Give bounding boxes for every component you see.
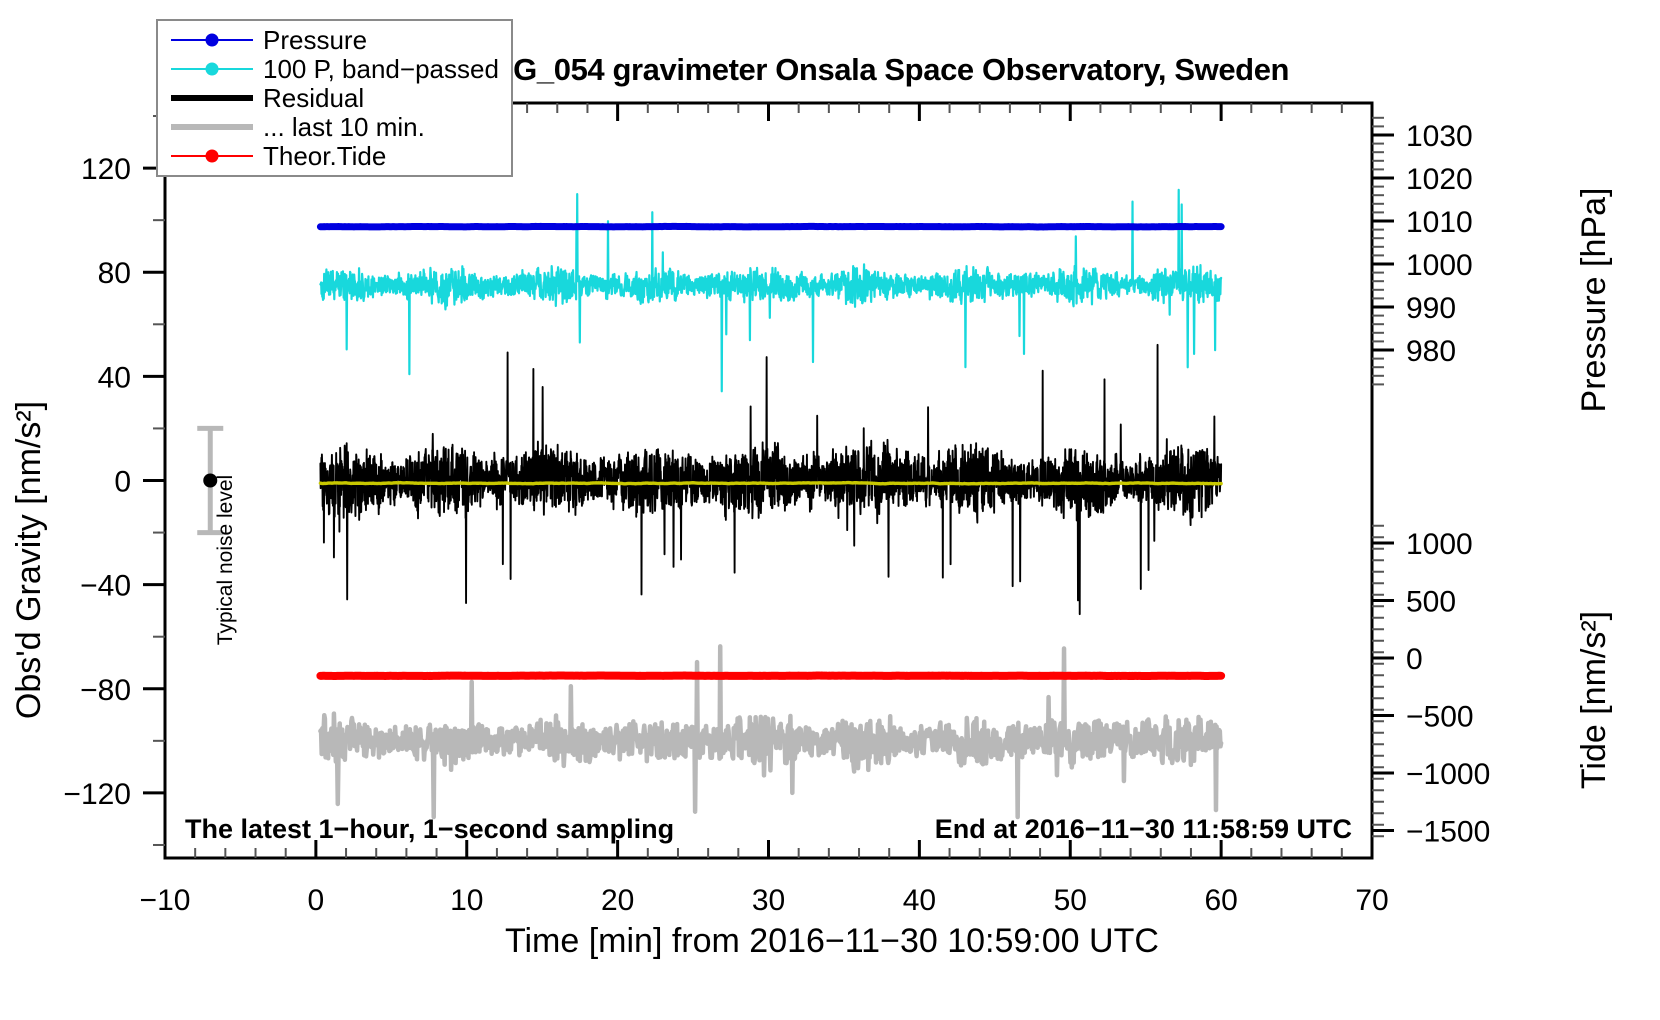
- pressure-tick-label: 990: [1406, 292, 1456, 325]
- y-tick-label: 80: [98, 257, 131, 290]
- note-right-endtime: End at 2016−11−30 11:58:59 UTC: [935, 814, 1352, 844]
- pressure-tick-label: 1010: [1406, 206, 1473, 239]
- y-axis-left-title: Obs'd Gravity [nm/s²]: [10, 401, 48, 719]
- x-tick-label: 20: [601, 884, 634, 917]
- legend-marker-dot: [206, 34, 219, 47]
- y-tick-label: 0: [114, 466, 131, 499]
- tide-tick-label: −1000: [1406, 758, 1490, 791]
- gravimeter-plot: −1001020304050607012080400−40−80−1201030…: [0, 0, 1660, 1020]
- note-left-sampling: The latest 1−hour, 1−second sampling: [185, 814, 674, 844]
- figure-canvas: −1001020304050607012080400−40−80−1201030…: [0, 0, 1660, 1020]
- tide-tick-label: 1000: [1406, 528, 1473, 561]
- legend-marker-dot: [206, 63, 219, 76]
- legend-marker-dot: [206, 150, 219, 163]
- y-tick-label: −80: [80, 674, 131, 707]
- y-axis-tide-title: Tide [nm/s²]: [1575, 611, 1613, 789]
- legend-item-label: 100 P, band−passed: [263, 54, 499, 84]
- legend-item-label: Pressure: [263, 25, 367, 55]
- legend-item-label: ... last 10 min.: [263, 112, 425, 142]
- y-tick-label: 40: [98, 361, 131, 394]
- x-tick-label: −10: [140, 884, 191, 917]
- tide-tick-label: 500: [1406, 586, 1456, 619]
- x-tick-label: 40: [903, 884, 936, 917]
- x-tick-label: 50: [1054, 884, 1087, 917]
- y-tick-label: 120: [81, 153, 131, 186]
- pressure-tick-label: 1020: [1406, 163, 1473, 196]
- pressure-tick-label: 980: [1406, 335, 1456, 368]
- x-tick-label: 10: [450, 884, 483, 917]
- legend-item-label: Theor.Tide: [263, 141, 386, 171]
- tide-tick-label: −1500: [1406, 816, 1490, 849]
- y-tick-label: −120: [63, 778, 131, 811]
- x-tick-label: 60: [1204, 884, 1237, 917]
- noise-level-label: Typical noise level: [214, 475, 237, 645]
- x-tick-label: 0: [308, 884, 325, 917]
- x-tick-label: 70: [1355, 884, 1388, 917]
- legend-item-label: Residual: [263, 83, 364, 113]
- y-tick-label: −40: [80, 570, 131, 603]
- x-axis-title: Time [min] from 2016−11−30 10:59:00 UTC: [505, 922, 1159, 960]
- y-axis-pressure-title: Pressure [hPa]: [1575, 188, 1613, 413]
- legend[interactable]: Pressure100 P, band−passedResidual... la…: [157, 20, 512, 176]
- series-theor-tide: [320, 675, 1221, 676]
- x-tick-label: 30: [752, 884, 785, 917]
- pressure-tick-label: 1000: [1406, 249, 1473, 282]
- tide-tick-label: −500: [1406, 701, 1474, 734]
- series-residual-smoothed: [320, 483, 1221, 484]
- tide-tick-label: 0: [1406, 643, 1423, 676]
- page-title: SCG_054 gravimeter Onsala Space Observat…: [471, 52, 1289, 87]
- pressure-tick-label: 1030: [1406, 120, 1473, 153]
- series-pressure: [320, 226, 1221, 227]
